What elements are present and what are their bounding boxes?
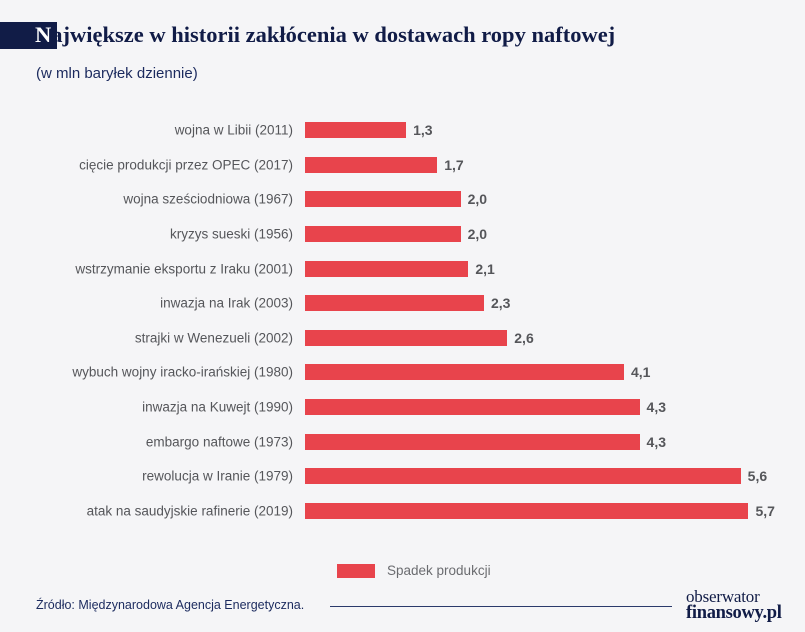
bar [305,330,507,346]
chart-row: wojna w Libii (2011)1,3 [0,113,805,148]
bar [305,468,741,484]
value-label: 4,3 [647,399,666,415]
bar-track [305,191,461,207]
chart-row: cięcie produkcji przez OPEC (2017)1,7 [0,148,805,183]
infographic-page: Największe w historii zakłócenia w dosta… [0,0,805,632]
bar-track [305,503,748,519]
source-note: Źródło: Międzynarodowa Agencja Energetyc… [36,598,304,612]
bar [305,399,640,415]
category-label: wstrzymanie eksportu z Iraku (2001) [75,261,293,276]
bar-track [305,226,461,242]
chart-row: kryzys sueski (1956)2,0 [0,217,805,252]
bar-track [305,330,507,346]
footer-divider [330,606,672,607]
bar [305,261,468,277]
obserwator-finansowy-logo: obserwator finansowy.pl [686,588,782,623]
bar [305,157,437,173]
page-title-rest: ajwiększe w historii zakłócenia w dostaw… [51,22,615,47]
logo-line-bottom: finansowy.pl [686,604,782,623]
bar-track [305,261,468,277]
category-label: embargo naftowe (1973) [146,434,293,449]
bar [305,364,624,380]
bar [305,434,640,450]
bar-track [305,122,406,138]
bar-track [305,364,624,380]
category-label: cięcie produkcji przez OPEC (2017) [79,157,293,172]
category-label: inwazja na Irak (2003) [160,296,293,311]
chart-row: inwazja na Kuwejt (1990)4,3 [0,390,805,425]
value-label: 2,3 [491,295,510,311]
value-label: 1,3 [413,122,432,138]
legend-label-spadek-produkcji: Spadek produkcji [387,563,491,578]
value-label: 2,6 [514,330,533,346]
bar [305,191,461,207]
value-label: 5,7 [755,503,774,519]
bar-chart: wojna w Libii (2011)1,3cięcie produkcji … [0,113,805,543]
category-label: kryzys sueski (1956) [170,227,293,242]
value-label: 2,0 [468,191,487,207]
category-label: strajki w Wenezueli (2002) [135,330,293,345]
bar-track [305,434,640,450]
chart-legend: Spadek produkcji [337,563,491,578]
category-label: wojna sześciodniowa (1967) [123,192,293,207]
bar-track [305,399,640,415]
value-label: 4,3 [647,434,666,450]
bar-track [305,295,484,311]
chart-row: wojna sześciodniowa (1967)2,0 [0,182,805,217]
value-label: 5,6 [748,468,767,484]
bar-track [305,157,437,173]
category-label: wybuch wojny iracko-irańskiej (1980) [72,365,293,380]
category-label: inwazja na Kuwejt (1990) [142,400,293,415]
value-label: 2,0 [468,226,487,242]
bar-track [305,468,741,484]
chart-row: wybuch wojny iracko-irańskiej (1980)4,1 [0,355,805,390]
bar [305,503,748,519]
page-title: Największe w historii zakłócenia w dosta… [35,20,615,50]
chart-row: atak na saudyjskie rafinerie (2019)5,7 [0,494,805,529]
bar [305,122,406,138]
category-label: wojna w Libii (2011) [175,123,293,138]
legend-swatch-spadek-produkcji [337,564,375,578]
bar [305,226,461,242]
value-label: 4,1 [631,364,650,380]
bar [305,295,484,311]
chart-row: embargo naftowe (1973)4,3 [0,424,805,459]
value-label: 1,7 [444,157,463,173]
value-label: 2,1 [475,261,494,277]
chart-row: strajki w Wenezueli (2002)2,6 [0,321,805,356]
chart-row: inwazja na Irak (2003)2,3 [0,286,805,321]
page-title-initial: N [35,22,51,47]
category-label: rewolucja w Iranie (1979) [142,469,293,484]
chart-row: wstrzymanie eksportu z Iraku (2001)2,1 [0,251,805,286]
chart-row: rewolucja w Iranie (1979)5,6 [0,459,805,494]
page-subtitle: (w mln baryłek dziennie) [36,65,198,82]
category-label: atak na saudyjskie rafinerie (2019) [87,503,293,518]
